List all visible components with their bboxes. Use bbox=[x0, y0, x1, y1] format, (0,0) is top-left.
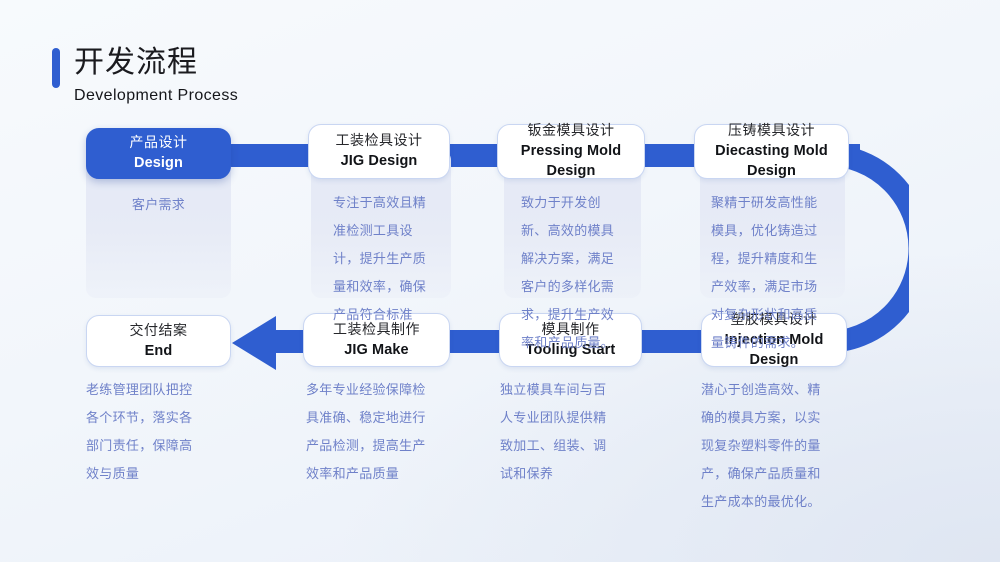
title-accent-bar bbox=[52, 48, 60, 88]
step-body-end: 老练管理团队把控各个环节，落实各部门责任，保障高效与质量 bbox=[86, 377, 199, 489]
slide-canvas: 开发流程 Development Process 产品设计 Design 工装检… bbox=[0, 0, 1000, 562]
step-card-diecasting-mold-design[interactable]: 压铸模具设计 Diecasting Mold Design bbox=[694, 124, 849, 179]
arrow-to-end bbox=[232, 316, 276, 370]
step-body-design: 客户需求 bbox=[86, 192, 231, 220]
step-body-jig-make: 多年专业经验保障检具准确、稳定地进行产品检测，提高生产效率和产品质量 bbox=[306, 377, 436, 489]
step-card-jig-design[interactable]: 工装检具设计 JIG Design bbox=[308, 124, 450, 179]
step-title-en: End bbox=[145, 341, 173, 361]
step-title-cn: 工装检具设计 bbox=[336, 132, 423, 151]
page-title: 开发流程 Development Process bbox=[52, 42, 238, 106]
step-title-cn: 交付结案 bbox=[130, 322, 188, 341]
step-title-cn: 钣金模具设计 bbox=[528, 122, 615, 141]
step-title-en: Design bbox=[134, 153, 183, 173]
step-title-cn: 产品设计 bbox=[130, 134, 188, 153]
step-body-diecasting-mold-design: 聚精于研发高性能模具，优化铸造过程，提升精度和生产效率，满足市场对复杂形状和高质… bbox=[711, 190, 828, 358]
step-body-tooling-start: 独立模具车间与百人专业团队提供精致加工、组装、调试和保养 bbox=[500, 377, 617, 489]
step-card-end[interactable]: 交付结案 End bbox=[86, 315, 231, 367]
step-body-injection-mold-design: 潜心于创造高效、精确的模具方案，以实现复杂塑料零件的量产，确保产品质量和生产成本… bbox=[701, 377, 831, 517]
step-title-en: Diecasting Mold Design bbox=[695, 141, 848, 181]
title-en: Development Process bbox=[74, 86, 238, 106]
step-card-design[interactable]: 产品设计 Design bbox=[86, 128, 231, 179]
step-card-pressing-mold-design[interactable]: 钣金模具设计 Pressing Mold Design bbox=[497, 124, 645, 179]
step-title-en: JIG Make bbox=[344, 340, 408, 360]
step-body-pressing-mold-design: 致力于开发创新、高效的模具解决方案，满足客户的多样化需求，提升生产效率和产品质量… bbox=[521, 190, 625, 358]
step-title-en: Pressing Mold Design bbox=[498, 141, 644, 181]
title-cn: 开发流程 bbox=[74, 42, 238, 84]
step-title-en: JIG Design bbox=[341, 151, 418, 171]
step-title-cn: 压铸模具设计 bbox=[728, 122, 815, 141]
step-body-jig-design: 专注于高效且精准检测工具设计，提升生产质量和效率，确保产品符合标准 bbox=[333, 190, 437, 330]
